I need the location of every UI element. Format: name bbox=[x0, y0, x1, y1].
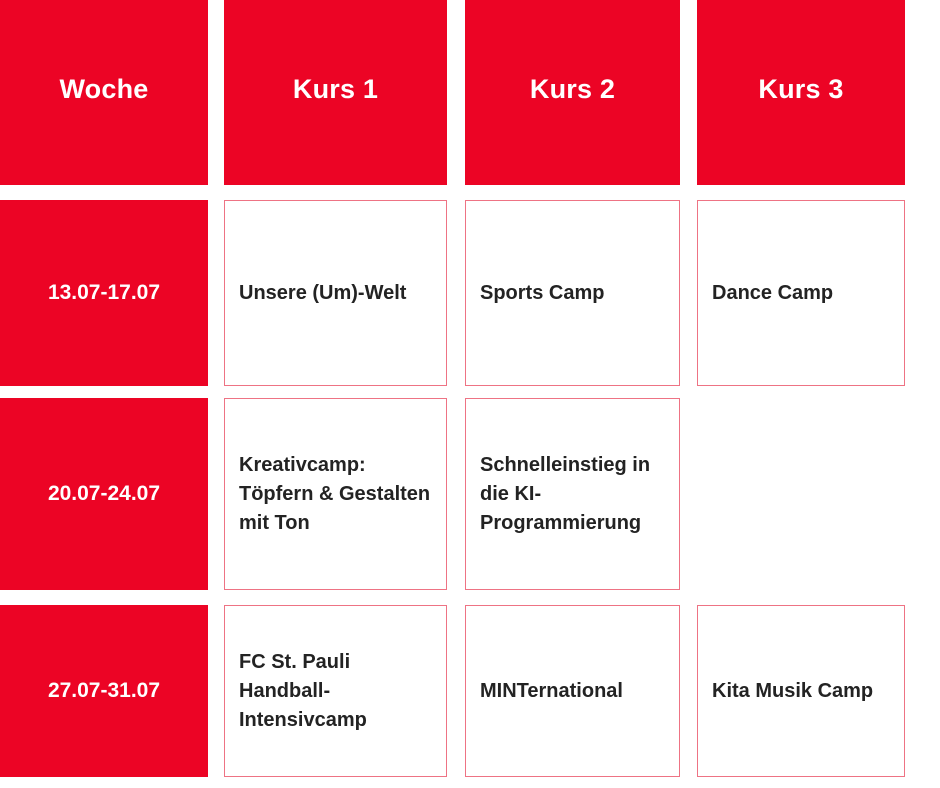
week-label: 27.07-31.07 bbox=[48, 678, 160, 704]
table-row-3-kurs-3-cell[interactable]: Kita Musik Camp bbox=[697, 605, 905, 777]
table-row-1-kurs-1-cell[interactable]: Unsere (Um)-Welt bbox=[224, 200, 447, 386]
course-label: Kreativcamp: Töpfern & Gestalten mit Ton bbox=[239, 451, 432, 538]
course-label: Dance Camp bbox=[712, 279, 833, 308]
table-header-label: Kurs 2 bbox=[530, 73, 615, 105]
course-label: Unsere (Um)-Welt bbox=[239, 279, 406, 308]
table-header-label: Kurs 3 bbox=[758, 73, 843, 105]
course-label: FC St. Pauli Handball-Intensivcamp bbox=[239, 648, 432, 735]
table-header-kurs-2: Kurs 2 bbox=[465, 0, 680, 185]
table-row-1-kurs-2-cell[interactable]: Sports Camp bbox=[465, 200, 680, 386]
week-label: 20.07-24.07 bbox=[48, 481, 160, 507]
table-header-label: Kurs 1 bbox=[293, 73, 378, 105]
course-label: Sports Camp bbox=[480, 279, 604, 308]
table-row-2-kurs-3-cell-empty bbox=[697, 398, 905, 590]
table-header-kurs-1: Kurs 1 bbox=[224, 0, 447, 185]
table-row-3-week-cell: 27.07-31.07 bbox=[0, 605, 208, 777]
table-row-1-week-cell: 13.07-17.07 bbox=[0, 200, 208, 386]
table-row-2-kurs-1-cell[interactable]: Kreativcamp: Töpfern & Gestalten mit Ton bbox=[224, 398, 447, 590]
table-header-kurs-3: Kurs 3 bbox=[697, 0, 905, 185]
table-row-2-week-cell: 20.07-24.07 bbox=[0, 398, 208, 590]
table-row-3-kurs-1-cell[interactable]: FC St. Pauli Handball-Intensivcamp bbox=[224, 605, 447, 777]
table-header-label: Woche bbox=[59, 73, 148, 105]
table-row-2-kurs-2-cell[interactable]: Schnelleinstieg in die KI-Programmierung bbox=[465, 398, 680, 590]
table-header-woche: Woche bbox=[0, 0, 208, 185]
course-label: Kita Musik Camp bbox=[712, 677, 873, 706]
course-label: MINTernational bbox=[480, 677, 623, 706]
week-label: 13.07-17.07 bbox=[48, 280, 160, 306]
table-row-1-kurs-3-cell[interactable]: Dance Camp bbox=[697, 200, 905, 386]
course-schedule-table: Woche Kurs 1 Kurs 2 Kurs 3 13.07-17.07 U… bbox=[0, 0, 940, 788]
table-row-3-kurs-2-cell[interactable]: MINTernational bbox=[465, 605, 680, 777]
course-label: Schnelleinstieg in die KI-Programmierung bbox=[480, 451, 665, 538]
